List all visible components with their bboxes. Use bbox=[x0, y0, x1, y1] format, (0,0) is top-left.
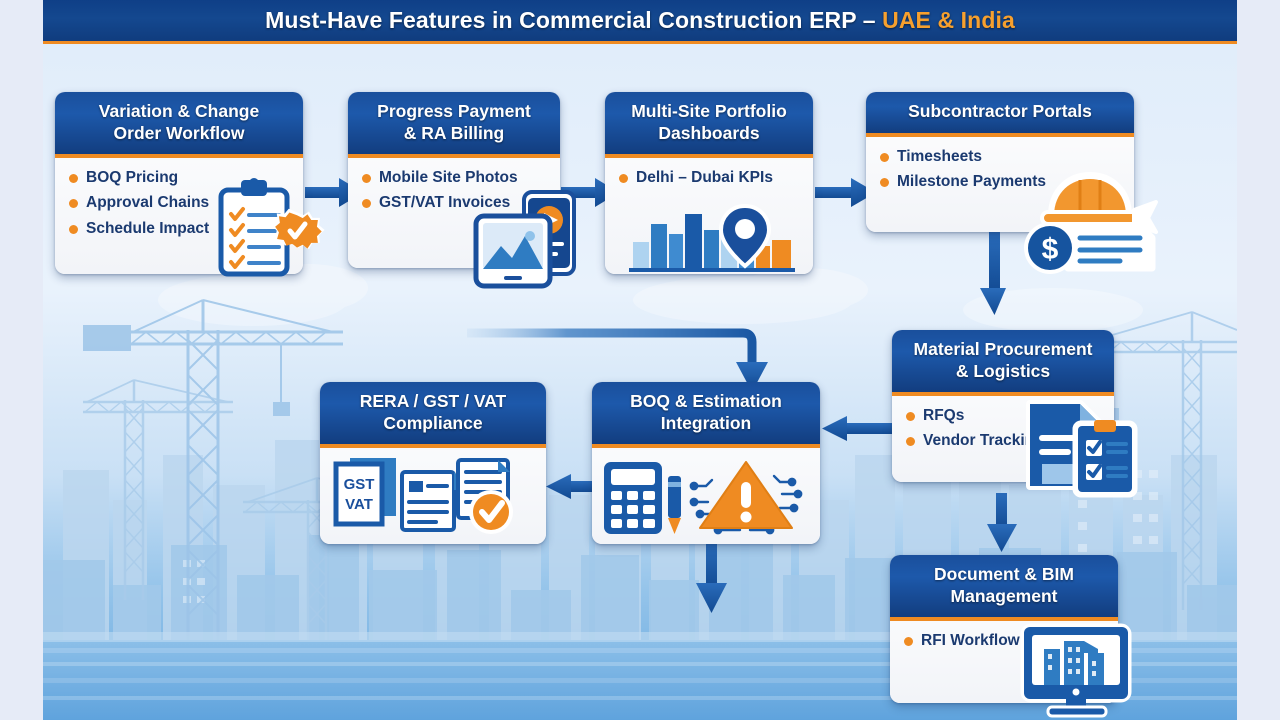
card-title-rera: RERA / GST / VAT Compliance bbox=[320, 382, 546, 448]
bullet-dot-icon bbox=[69, 174, 78, 183]
bullet-label: Delhi – Dubai KPIs bbox=[636, 168, 773, 187]
calculator-pencil-warning-circuit-icon bbox=[600, 452, 812, 538]
card-document-bim-management[interactable]: Document & BIM Management RFI Workflow bbox=[890, 555, 1118, 703]
bullet-label: Timesheets bbox=[897, 147, 982, 166]
vat-label: VAT bbox=[345, 496, 373, 513]
card-title-boq: BOQ & Estimation Integration bbox=[592, 382, 820, 448]
card-body-document-bim: RFI Workflow bbox=[890, 621, 1118, 664]
bullet-dot-icon bbox=[880, 153, 889, 162]
bullet-item: RFQs bbox=[906, 406, 1102, 425]
card-rera-gst-vat-compliance[interactable]: RERA / GST / VAT Compliance GST VAT bbox=[320, 382, 546, 544]
bullet-item: BOQ Pricing bbox=[69, 168, 291, 187]
bullet-item: Mobile Site Photos bbox=[362, 168, 548, 187]
skyline-bar-chart-map-pin-icon bbox=[629, 200, 795, 272]
infographic-stage: Must-Have Features in Commercial Constru… bbox=[0, 0, 1280, 720]
card-title-subcontractor: Subcontractor Portals bbox=[866, 92, 1134, 137]
card-body-multisite: Delhi – Dubai KPIs bbox=[605, 158, 813, 201]
bullet-label: Vendor Tracking bbox=[923, 431, 1044, 450]
card-title-material: Material Procurement & Logistics bbox=[892, 330, 1114, 396]
bullet-dot-icon bbox=[69, 199, 78, 208]
card-title-variation: Variation & Change Order Workflow bbox=[55, 92, 303, 158]
gst-label: GST bbox=[344, 476, 375, 493]
bullet-dot-icon bbox=[906, 412, 915, 421]
bullet-item: Timesheets bbox=[880, 147, 1122, 166]
bullet-label: BOQ Pricing bbox=[86, 168, 178, 187]
bullet-label: RFI Workflow bbox=[921, 631, 1020, 650]
bullet-dot-icon bbox=[906, 437, 915, 446]
card-body-variation: BOQ Pricing Approval Chains Schedule Imp… bbox=[55, 158, 303, 252]
bullet-label: RFQs bbox=[923, 406, 964, 425]
arrow-subcontractor-to-material bbox=[980, 232, 1006, 315]
card-body-rera: GST VAT bbox=[320, 448, 546, 544]
bullet-dot-icon bbox=[619, 174, 628, 183]
bullet-item: Delhi – Dubai KPIs bbox=[619, 168, 801, 187]
card-title-multisite: Multi-Site Portfolio Dashboards bbox=[605, 92, 813, 158]
left-margin bbox=[0, 0, 43, 720]
bullet-label: Schedule Impact bbox=[86, 219, 209, 238]
bullet-item: Schedule Impact bbox=[69, 219, 291, 238]
card-progress-payment-ra-billing[interactable]: Progress Payment & RA Billing Mobile Sit… bbox=[348, 92, 560, 268]
card-multi-site-portfolio-dashboards[interactable]: Multi-Site Portfolio Dashboards Delhi – … bbox=[605, 92, 813, 274]
card-boq-estimation-integration[interactable]: BOQ & Estimation Integration bbox=[592, 382, 820, 544]
card-body-boq bbox=[592, 448, 820, 544]
card-body-progress: Mobile Site Photos GST/VAT Invoices bbox=[348, 158, 560, 227]
bullet-label: Approval Chains bbox=[86, 193, 209, 212]
bullet-item: Vendor Tracking bbox=[906, 431, 1102, 450]
card-variation-change-order-workflow[interactable]: Variation & Change Order Workflow BOQ Pr… bbox=[55, 92, 303, 274]
card-material-procurement-logistics[interactable]: Material Procurement & Logistics RFQs Ve… bbox=[892, 330, 1114, 482]
card-body-subcontractor: Timesheets Milestone Payments bbox=[866, 137, 1134, 206]
bullet-item: RFI Workflow bbox=[904, 631, 1106, 650]
bullet-label: GST/VAT Invoices bbox=[379, 193, 510, 212]
bullet-item: GST/VAT Invoices bbox=[362, 193, 548, 212]
bullet-dot-icon bbox=[904, 637, 913, 646]
bullet-label: Mobile Site Photos bbox=[379, 168, 518, 187]
card-body-material: RFQs Vendor Tracking bbox=[892, 396, 1114, 465]
arrow-boq-down bbox=[696, 542, 727, 613]
card-title-progress: Progress Payment & RA Billing bbox=[348, 92, 560, 158]
bullet-dot-icon bbox=[362, 199, 371, 208]
card-title-document-bim: Document & BIM Management bbox=[890, 555, 1118, 621]
bullet-dot-icon bbox=[69, 225, 78, 234]
bullet-dot-icon bbox=[880, 178, 889, 187]
card-subcontractor-portals[interactable]: Subcontractor Portals Timesheets Milesto… bbox=[866, 92, 1134, 232]
arrow-material-to-boq bbox=[822, 416, 893, 441]
bullet-item: Milestone Payments bbox=[880, 172, 1122, 191]
gst-vat-documents-check-icon: GST VAT bbox=[328, 454, 538, 536]
bullet-item: Approval Chains bbox=[69, 193, 291, 212]
arrow-material-to-document bbox=[987, 493, 1017, 552]
bullet-label: Milestone Payments bbox=[897, 172, 1046, 191]
right-margin bbox=[1237, 0, 1280, 720]
bullet-dot-icon bbox=[362, 174, 371, 183]
